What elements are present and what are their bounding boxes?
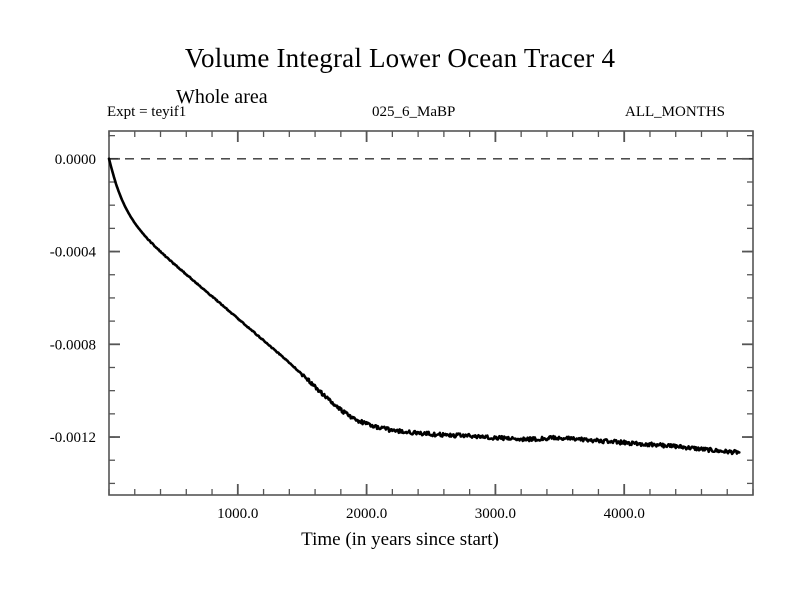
plot-page: Volume Integral Lower Ocean Tracer 4 Who…	[0, 0, 800, 600]
line-chart-svg: 0.0000-0.0004-0.0008-0.0012 1000.02000.0…	[0, 0, 800, 600]
y-axis-tick-labels: 0.0000-0.0004-0.0008-0.0012	[50, 152, 97, 446]
plot-area: 0.0000-0.0004-0.0008-0.0012 1000.02000.0…	[0, 0, 800, 600]
y-tick-label: -0.0012	[50, 430, 96, 446]
y-axis-minor-ticks	[109, 136, 753, 484]
x-axis-title: Time (in years since start)	[0, 528, 800, 552]
x-tick-label: 2000.0	[346, 506, 387, 522]
y-tick-label: 0.0000	[55, 152, 96, 168]
data-series-group	[109, 159, 739, 454]
x-tick-label: 3000.0	[475, 506, 516, 522]
data-series-line	[109, 159, 739, 454]
x-axis-tick-labels: 1000.02000.03000.04000.0	[217, 506, 645, 522]
y-tick-label: -0.0004	[50, 245, 97, 261]
x-tick-label: 1000.0	[217, 506, 258, 522]
y-axis-major-ticks	[109, 159, 753, 437]
axes-frame	[109, 131, 753, 495]
y-tick-label: -0.0008	[50, 337, 96, 353]
x-axis-major-ticks	[238, 131, 624, 495]
x-axis-minor-ticks	[109, 131, 753, 495]
chart-frame	[109, 131, 753, 495]
x-tick-label: 4000.0	[604, 506, 645, 522]
